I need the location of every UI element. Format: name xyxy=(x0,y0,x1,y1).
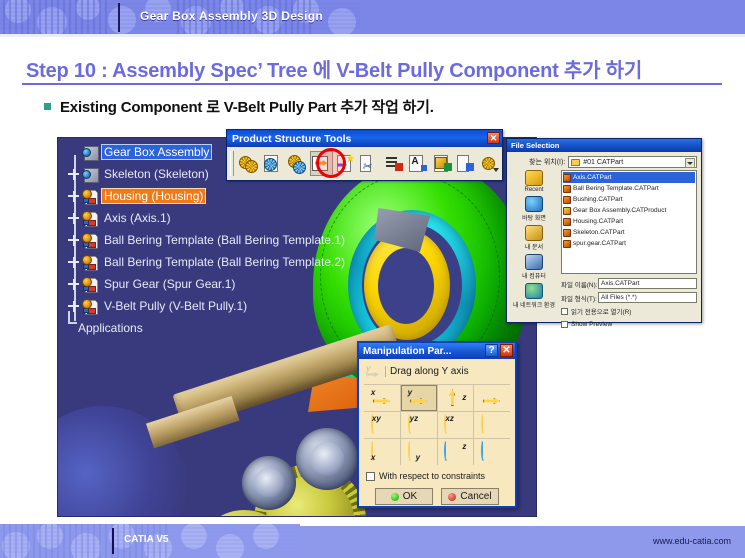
product-icon xyxy=(82,145,98,160)
product-structure-tools-toolbar[interactable]: Product Structure Tools ✕ ✂ xyxy=(226,129,503,181)
generate-numbering-icon[interactable] xyxy=(382,151,405,176)
model-bearing-1-inner xyxy=(310,442,344,476)
part-icon xyxy=(82,233,98,248)
spec-tree-label: V-Belt Pully (V-Belt Pully.1) xyxy=(102,299,249,313)
recent-icon xyxy=(525,170,543,186)
axis-label: y xyxy=(366,363,371,373)
drag-along-x-icon[interactable]: x xyxy=(364,385,400,411)
model-bearing-2-inner xyxy=(254,468,284,498)
place-network[interactable]: 내 네트워크 환경 xyxy=(513,283,555,309)
expand-icon[interactable] xyxy=(68,235,79,246)
slide-page: Gear Box Assembly 3D Design Step 10 : As… xyxy=(0,0,745,558)
file-list-item[interactable]: Bushing.CATPart xyxy=(563,194,695,205)
bullet-text: Existing Component 로 V-Belt Pully Part 추… xyxy=(60,96,434,117)
spec-tree-label: Applications xyxy=(76,321,145,335)
places-bar[interactable]: Recent 바탕 화면 내 문서 내 컴퓨터 내 네트워크 환경 xyxy=(511,170,557,310)
folder-icon xyxy=(571,159,580,166)
file-list-item[interactable]: Gear Box Assembly.CATProduct xyxy=(563,205,695,216)
drag-along-z-icon[interactable]: z xyxy=(438,385,474,411)
readonly-label: 읽기 전용으로 열기(R) xyxy=(571,306,631,316)
file-name: Ball Bering Template.CATPart xyxy=(573,185,659,192)
header-banner: Gear Box Assembly 3D Design xyxy=(0,0,745,34)
part-icon xyxy=(82,189,98,204)
place-label: 내 컴퓨터 xyxy=(522,271,546,280)
toolbar-title: Product Structure Tools xyxy=(232,133,351,145)
spec-tree-item-spur-gear[interactable]: Spur Gear (Spur Gear.1) xyxy=(64,273,324,295)
look-in-value: #01 CATPart xyxy=(583,159,623,166)
spec-tree-label: Spur Gear (Spur Gear.1) xyxy=(102,277,237,291)
catpart-icon xyxy=(563,196,571,204)
title-divider xyxy=(22,83,722,85)
place-label: Recent xyxy=(524,187,543,193)
model-v-belt-pulley xyxy=(130,516,248,517)
rotate-about-y-icon[interactable]: y xyxy=(401,439,437,465)
spec-tree-label: Axis (Axis.1) xyxy=(102,211,173,225)
file-selection-body: 찾는 위치(I): #01 CATPart Recent 바탕 화면 xyxy=(507,152,701,324)
my-computer-icon xyxy=(525,254,543,270)
file-name-input[interactable]: Axis.CATPart xyxy=(598,278,697,289)
place-desktop[interactable]: 바탕 화면 xyxy=(522,196,546,222)
footer-divider xyxy=(112,528,114,554)
look-in-row: 찾는 위치(I): #01 CATPart xyxy=(529,156,697,168)
manipulation-icon-grid[interactable]: x y z xy yz xz x y z xyxy=(364,384,510,465)
banner-divider xyxy=(118,3,120,32)
toolbar-overflow-icon[interactable] xyxy=(479,151,502,176)
new-product-icon[interactable] xyxy=(261,151,284,176)
file-list[interactable]: Axis.CATPart Ball Bering Template.CATPar… xyxy=(561,170,697,274)
desktop-icon xyxy=(525,196,543,212)
cancel-button[interactable]: Cancel xyxy=(441,488,499,505)
expand-icon[interactable] xyxy=(68,191,79,202)
place-label: 내 네트워크 환경 xyxy=(513,300,555,309)
file-type-label: 파일 형식(T): xyxy=(561,293,595,303)
bullet-square-icon xyxy=(44,103,51,110)
replace-component-icon[interactable] xyxy=(334,151,357,176)
readonly-checkbox[interactable] xyxy=(561,308,568,315)
ok-indicator-icon xyxy=(391,493,399,501)
toolbar-title-bar: Product Structure Tools ✕ xyxy=(227,130,502,147)
my-documents-icon xyxy=(525,225,543,241)
file-selection-title-bar: File Selection xyxy=(507,139,701,152)
show-preview-checkbox[interactable] xyxy=(561,321,568,328)
footer-label: CATIA V5 xyxy=(124,534,168,545)
file-selection-fields: 파일 이름(N): Axis.CATPart 파일 형식(T): All Fil… xyxy=(561,278,697,328)
spec-tree-item-applications[interactable]: Applications xyxy=(64,317,324,339)
tree-elbow xyxy=(68,311,77,324)
drag-along-y-icon[interactable]: y xyxy=(401,385,437,411)
catproduct-icon xyxy=(563,207,571,215)
file-selection-title: File Selection xyxy=(511,141,559,150)
constraints-checkbox[interactable] xyxy=(366,472,375,481)
drag-along-any-icon[interactable] xyxy=(474,385,510,411)
file-type-row: 파일 형식(T): All Files (*.*) xyxy=(561,292,697,303)
readonly-checkbox-row[interactable]: 읽기 전용으로 열기(R) xyxy=(561,306,697,316)
spec-tree-label: Skeleton (Skeleton) xyxy=(102,167,211,181)
spec-tree-label: Ball Bering Template (Ball Bering Templa… xyxy=(102,233,347,247)
drag-along-y-axis-icon: y xyxy=(364,363,381,379)
ok-button[interactable]: OK xyxy=(375,488,433,505)
selective-load-icon[interactable]: A xyxy=(406,151,429,176)
spec-tree-item-ball-bering-template-1[interactable]: Ball Bering Template (Ball Bering Templa… xyxy=(64,229,324,251)
multi-instantiation-icon[interactable] xyxy=(455,151,478,176)
file-name: Axis.CATPart xyxy=(573,174,612,181)
file-name: spur.gear.CATPart xyxy=(573,240,626,247)
show-preview-label: Show Preview xyxy=(571,321,612,328)
cancel-indicator-icon xyxy=(448,493,456,501)
file-name-row: 파일 이름(N): Axis.CATPart xyxy=(561,278,697,289)
look-in-label: 찾는 위치(I): xyxy=(529,157,565,167)
rotate-about-z-icon[interactable]: z xyxy=(438,439,474,465)
spec-tree-item-housing[interactable]: Housing (Housing) xyxy=(64,185,324,207)
place-label: 바탕 화면 xyxy=(522,213,546,222)
manage-representations-icon[interactable] xyxy=(431,151,454,176)
file-list-item[interactable]: Axis.CATPart xyxy=(563,172,695,183)
chevron-down-icon[interactable] xyxy=(685,158,695,168)
cancel-label: Cancel xyxy=(460,491,491,502)
spec-tree-item-ball-bering-template-2[interactable]: Ball Bering Template (Ball Bering Templa… xyxy=(64,251,324,273)
place-my-documents[interactable]: 내 문서 xyxy=(525,225,543,251)
drag-in-any-plane-icon[interactable] xyxy=(474,412,510,438)
show-preview-checkbox-row[interactable]: Show Preview xyxy=(561,321,697,328)
footer-banner: CATIA V5 www.edu-catia.com xyxy=(0,524,745,558)
new-part-icon[interactable] xyxy=(285,151,308,176)
file-list-item[interactable]: Skeleton.CATPart xyxy=(563,227,695,238)
toolbar-button-row: ✂ A xyxy=(227,147,502,180)
expand-icon[interactable] xyxy=(68,213,79,224)
expand-icon[interactable] xyxy=(68,169,79,180)
existing-component-icon[interactable] xyxy=(310,151,333,176)
file-type-select[interactable]: All Files (*.*) xyxy=(598,292,697,303)
bullet-line: Existing Component 로 V-Belt Pully Part 추… xyxy=(44,96,434,117)
place-label: 내 문서 xyxy=(525,242,543,251)
part-icon xyxy=(82,211,98,226)
catpart-icon xyxy=(563,229,571,237)
manipulation-window-buttons: ? ✕ xyxy=(485,344,513,357)
part-icon xyxy=(82,299,98,314)
file-list-item[interactable]: Housing.CATPart xyxy=(563,216,695,227)
file-name-label: 파일 이름(N): xyxy=(561,279,595,289)
part-icon xyxy=(82,255,98,270)
model-ring-yellow-inner xyxy=(378,248,434,324)
manipulation-actions: OK Cancel xyxy=(359,488,515,505)
close-icon[interactable]: ✕ xyxy=(487,132,500,144)
spec-tree-label: Ball Bering Template (Ball Bering Templa… xyxy=(102,255,347,269)
graph-tree-reorder-icon[interactable]: ✂ xyxy=(358,151,381,176)
spec-tree-label: Housing (Housing) xyxy=(102,189,205,203)
spec-tree-label: Gear Box Assembly xyxy=(102,145,211,159)
file-name: Gear Box Assembly.CATProduct xyxy=(573,207,666,214)
file-list-item[interactable]: spur.gear.CATPart xyxy=(563,238,695,249)
spec-tree-item-axis[interactable]: Axis (Axis.1) xyxy=(64,207,324,229)
ok-label: OK xyxy=(403,491,417,502)
manipulation-parameters-dialog[interactable]: Manipulation Par... ? ✕ y Drag along Y a… xyxy=(357,341,517,508)
rotate-about-any-icon[interactable] xyxy=(474,439,510,465)
file-selection-dialog[interactable]: File Selection 찾는 위치(I): #01 CATPart Rec… xyxy=(506,138,702,323)
expand-icon[interactable] xyxy=(68,257,79,268)
file-list-item[interactable]: Ball Bering Template.CATPart xyxy=(563,183,695,194)
look-in-combo[interactable]: #01 CATPart xyxy=(568,156,697,168)
spec-tree-item-v-belt-pully[interactable]: V-Belt Pully (V-Belt Pully.1) xyxy=(64,295,324,317)
file-name: Bushing.CATPart xyxy=(573,196,623,203)
footer-url[interactable]: www.edu-catia.com xyxy=(653,536,731,546)
file-name: Housing.CATPart xyxy=(573,218,623,225)
place-my-computer[interactable]: 내 컴퓨터 xyxy=(522,254,546,280)
drag-in-xz-plane-icon[interactable]: xz xyxy=(438,412,474,438)
drag-hint-text: Drag along Y axis xyxy=(385,366,469,377)
file-name: Skeleton.CATPart xyxy=(573,229,625,236)
banner-underline xyxy=(0,34,745,37)
network-icon xyxy=(525,283,543,299)
catpart-icon xyxy=(563,240,571,248)
drag-in-xy-plane-icon[interactable]: xy xyxy=(364,412,400,438)
place-recent[interactable]: Recent xyxy=(524,170,543,193)
drag-hint-row: y Drag along Y axis xyxy=(359,359,515,381)
catpart-icon xyxy=(563,174,571,182)
expand-icon[interactable] xyxy=(68,279,79,290)
expand-icon[interactable] xyxy=(68,301,79,312)
manipulation-title: Manipulation Par... xyxy=(363,346,451,357)
catpart-icon xyxy=(563,218,571,226)
with-respect-to-constraints-row[interactable]: With respect to constraints xyxy=(366,471,515,481)
close-icon[interactable]: ✕ xyxy=(500,344,513,357)
toolbar-grip[interactable] xyxy=(230,151,234,176)
catpart-icon xyxy=(563,185,571,193)
manipulation-title-bar: Manipulation Par... ? ✕ xyxy=(359,343,515,359)
page-title: Step 10 : Assembly Spec’ Tree 에 V-Belt P… xyxy=(26,54,642,83)
part-icon xyxy=(82,277,98,292)
help-icon[interactable]: ? xyxy=(485,344,498,357)
part-icon xyxy=(82,167,98,182)
new-component-icon[interactable] xyxy=(237,151,260,176)
header-title: Gear Box Assembly 3D Design xyxy=(140,9,323,23)
drag-in-yz-plane-icon[interactable]: yz xyxy=(401,412,437,438)
rotate-about-x-icon[interactable]: x xyxy=(364,439,400,465)
constraints-label: With respect to constraints xyxy=(379,471,485,481)
